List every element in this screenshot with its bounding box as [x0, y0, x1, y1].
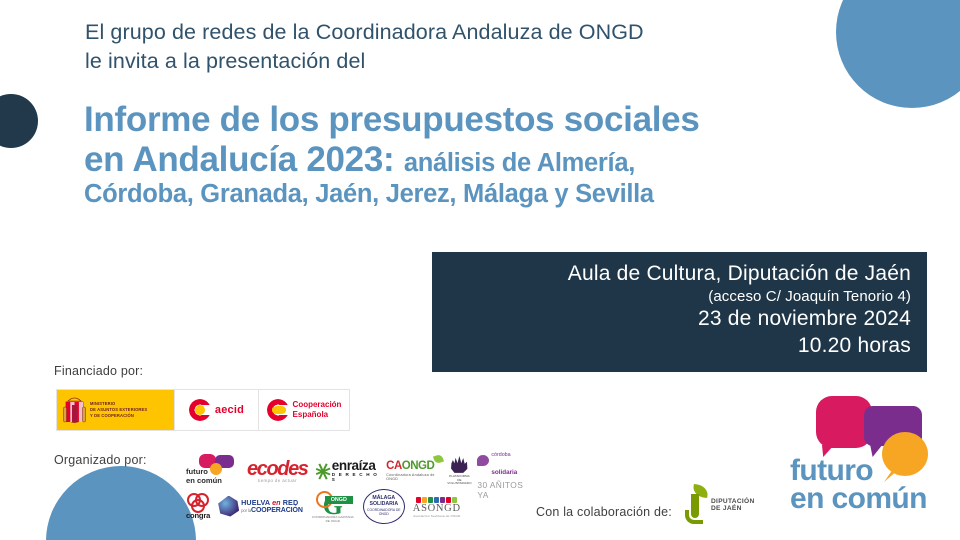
page-title: Informe de los presupuestos sociales en … [84, 100, 894, 209]
logo-cordoba-solidaria: córdoba solidaria 30 AÑITOS YA [477, 443, 531, 500]
intro-text: El grupo de redes de la Coordinadora And… [85, 18, 885, 75]
logo-mano-solidaria: PLATAFORMA DE VOLUNTARIADO [448, 456, 470, 486]
ministerio-text: MINISTERIO DE ASUNTOS EXTERIORES Y DE CO… [90, 401, 147, 418]
aecid-wordmark: aecid [215, 404, 244, 416]
caongd-leaf-icon [433, 454, 444, 464]
event-date: 23 de noviembre 2024 [432, 306, 911, 333]
logo-congra: congra [186, 493, 210, 520]
asongd-wordmark: ASONGD [413, 503, 461, 514]
organizers-label: Organizado por: [54, 453, 147, 467]
enraiza-roots-icon [315, 463, 330, 480]
ecodes-wordmark: ecodes [247, 460, 308, 478]
congra-rings-icon [187, 493, 209, 511]
collaborator-label: Con la colaboración de: [536, 505, 672, 519]
cgongd-bar: ONGD [325, 496, 353, 504]
cordoba-anniversary: 30 AÑITOS YA [477, 480, 531, 500]
logo-cgongd: G ONGD COORDINADORA GADITANA DE ONGD [311, 490, 355, 522]
diputacion-line-2: DE JAÉN [711, 505, 755, 512]
diputacion-line-1: DIPUTACIÓN [711, 498, 755, 505]
intro-line-2: le invita a la presentación del [85, 47, 885, 76]
funders-logo-strip: MINISTERIO DE ASUNTOS EXTERIORES Y DE CO… [56, 389, 350, 431]
event-access: (acceso C/ Joaquín Tenorio 4) [432, 287, 911, 307]
enraiza-wordmark: enraíza [332, 460, 379, 473]
logo-asongd: ASONGD Asociación Sevillana de ONGD [413, 494, 461, 518]
decorative-circle-bottom-left [46, 466, 196, 540]
asongd-dots-icon [416, 494, 457, 503]
headline-line-2-sub: análisis de Almería, [404, 149, 635, 177]
logo-futuro-en-comun-small: futuroen común [186, 454, 240, 488]
caongd-subtitle: Coordinadora Andaluza de ONGD [386, 473, 441, 481]
aecid-logo: aecid [175, 390, 259, 430]
malaga-line-3: COORDINADORA DE ONGD [364, 508, 404, 516]
caongd-wordmark: CAONGD [386, 461, 434, 473]
decorative-circle-left-dark [0, 94, 38, 148]
hand-icon [450, 456, 469, 473]
headline-line-2: en Andalucía 2023: análisis de Almería, [84, 140, 894, 180]
spain-coat-of-arms-icon [62, 395, 87, 425]
speech-bubble-yellow-large-icon [882, 432, 928, 476]
headline-line-3: Córdoba, Granada, Jaén, Jerez, Málaga y … [84, 180, 894, 209]
cooperacion-espanola-logo: CooperaciónEspañola [259, 390, 349, 430]
mano-solidaria-caption: PLATAFORMA DE VOLUNTARIADO [447, 475, 471, 486]
huelva-network-icon [218, 496, 239, 517]
headline-line-1: Informe de los presupuestos sociales [84, 100, 894, 140]
cordoba-word-1: córdoba [491, 452, 510, 458]
brand-logo-futuro-en-comun: futuro en común [790, 392, 950, 520]
cooperacion-wordmark: CooperaciónEspañola [293, 400, 342, 420]
ministerio-logo: MINISTERIO DE ASUNTOS EXTERIORES Y DE CO… [57, 390, 175, 430]
event-time: 10.20 horas [432, 333, 911, 359]
enraiza-subtitle: D E R E C H O S [332, 472, 379, 482]
headline-line-2-main: en Andalucía 2023: [84, 140, 394, 179]
futuro-en-comun-small-text: futuroen común [186, 468, 222, 486]
intro-line-1: El grupo de redes de la Coordinadora And… [85, 18, 885, 47]
diputacion-j-icon [684, 485, 708, 525]
event-details-box: Aula de Cultura, Diputación de Jaén (acc… [432, 252, 927, 372]
huelva-line-2: por laCOOPERACIÓN [241, 507, 303, 514]
logo-malaga-solidaria: MÁLAGA SOLIDARIA COORDINADORA DE ONGD [363, 489, 405, 524]
event-venue: Aula de Cultura, Diputación de Jaén [432, 261, 911, 287]
organizers-row-1: futuroen común ecodes tiempo de actuar e… [186, 452, 531, 490]
aecid-c-icon [189, 399, 211, 421]
asongd-subtitle: Asociación Sevillana de ONGD [413, 514, 460, 518]
funders-label: Financiado por: [54, 364, 143, 378]
cordoba-hand-icon [477, 455, 489, 466]
logo-caongd: CAONGD Coordinadora Andaluza de ONGD [386, 461, 441, 481]
logo-huelva-en-red: HUELVA en RED por laCOOPERACIÓN [218, 496, 303, 517]
ecodes-tagline: tiempo de actuar [258, 478, 297, 483]
logo-diputacion-de-jaen: DIPUTACIÓN DE JAÉN [684, 485, 755, 525]
logo-ecodes: ecodes tiempo de actuar [247, 460, 308, 483]
cgongd-caption: COORDINADORA GADITANA DE ONGD [311, 515, 355, 523]
cordoba-word-2: solidaria [491, 469, 517, 476]
organizers-logo-grid: futuroen común ecodes tiempo de actuar e… [186, 452, 531, 525]
huelva-line-1: HUELVA en RED [241, 498, 303, 507]
poster-canvas: El grupo de redes de la Coordinadora And… [0, 0, 960, 540]
cooperacion-c-icon [267, 399, 289, 421]
logo-enraiza-derechos: enraíza D E R E C H O S [315, 460, 380, 483]
brand-word-2: en común [790, 482, 927, 516]
